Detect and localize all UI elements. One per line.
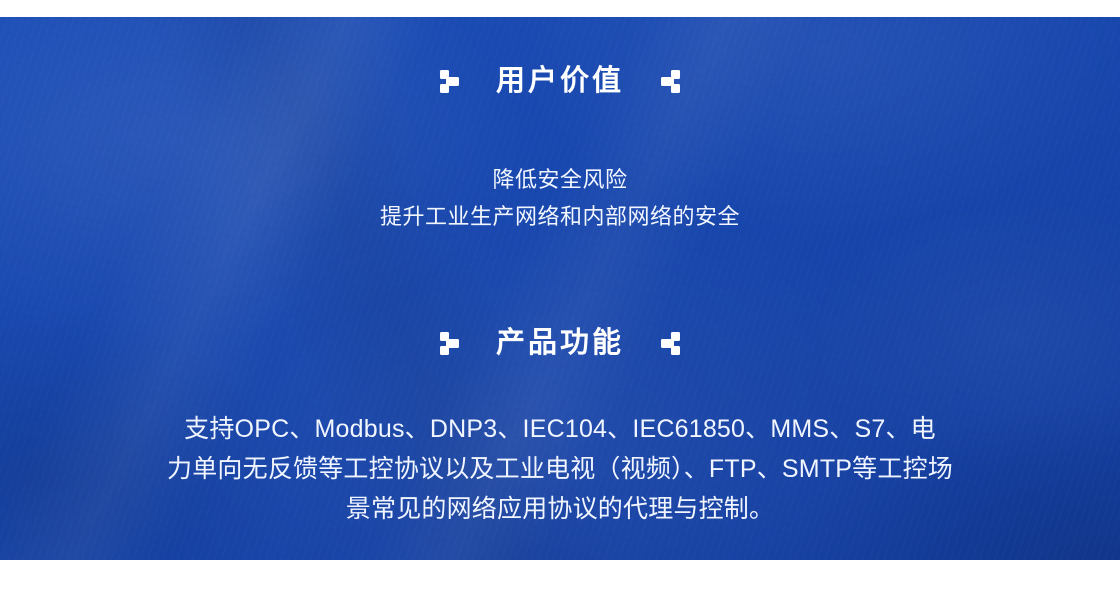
block-chevron-right-icon <box>440 332 462 355</box>
product-function-line-2: 力单向无反馈等工控协议以及工业电视（视频）、FTP、SMTP等工控场 <box>140 449 980 489</box>
user-value-text: 降低安全风险 提升工业生产网络和内部网络的安全 <box>0 161 1120 235</box>
slide-page: 用户价值 降低安全风险 提升工业生产网络和内部网络的安全 产品功能 <box>0 0 1120 592</box>
section-heading-user-value: 用户价值 <box>0 67 1120 96</box>
section-title-user-value: 用户价值 <box>496 67 624 96</box>
block-chevron-left-icon <box>658 70 680 93</box>
panel-content: 用户价值 降低安全风险 提升工业生产网络和内部网络的安全 产品功能 <box>0 17 1120 560</box>
product-function-line-3: 景常见的网络应用协议的代理与控制。 <box>140 489 980 529</box>
section-title-product-function: 产品功能 <box>496 329 624 358</box>
bottom-white-margin <box>0 560 1120 592</box>
product-function-text: 支持OPC、Modbus、DNP3、IEC104、IEC61850、MMS、S7… <box>140 409 980 529</box>
blue-content-panel: 用户价值 降低安全风险 提升工业生产网络和内部网络的安全 产品功能 <box>0 17 1120 560</box>
user-value-line-1: 降低安全风险 <box>0 161 1120 198</box>
user-value-line-2: 提升工业生产网络和内部网络的安全 <box>0 198 1120 235</box>
top-white-margin <box>0 0 1120 17</box>
section-heading-product-function: 产品功能 <box>0 329 1120 358</box>
product-function-line-1: 支持OPC、Modbus、DNP3、IEC104、IEC61850、MMS、S7… <box>140 409 980 449</box>
block-chevron-left-icon <box>658 332 680 355</box>
block-chevron-right-icon <box>440 70 462 93</box>
